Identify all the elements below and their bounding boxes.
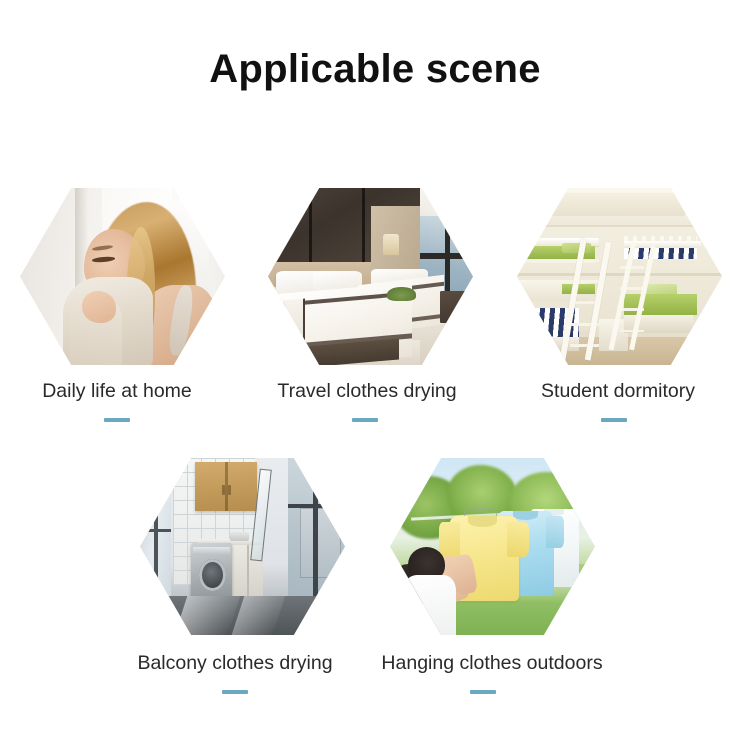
scene-accent-dash	[352, 418, 378, 422]
headboard-seam-right	[362, 188, 365, 268]
window-mullion-vertical	[445, 216, 450, 301]
ladder-rung	[570, 344, 599, 347]
scene-image-daily-life-at-home[interactable]	[20, 188, 225, 365]
scene-accent-dash	[104, 418, 130, 422]
scene-card-hanging-clothes-outdoors[interactable]	[390, 458, 595, 635]
shirt-neckline	[468, 516, 497, 527]
bunk-right-mattress-bottom	[624, 294, 698, 315]
window-frame-vertical	[313, 458, 318, 607]
applicable-scene-page: Applicable scene	[0, 0, 750, 750]
washer-control-panel	[193, 547, 230, 556]
scene-label-hanging-clothes-outdoors: Hanging clothes outdoors	[362, 652, 622, 675]
sink	[230, 532, 248, 541]
scene-image-hanging-clothes-outdoors[interactable]	[390, 458, 595, 635]
shirt-sleeve	[546, 516, 564, 548]
nightstand	[440, 291, 469, 323]
scene-card-daily-life-at-home[interactable]	[20, 188, 225, 365]
headboard-seam-left	[309, 188, 312, 268]
scene-card-balcony-clothes-drying[interactable]	[140, 458, 345, 635]
scene-label-daily-life-at-home: Daily life at home	[0, 380, 247, 403]
table-lamp	[383, 234, 399, 255]
photo-hotel-twin-beds	[268, 188, 473, 365]
washer-door	[199, 559, 226, 591]
scene-image-balcony-clothes-drying[interactable]	[140, 458, 345, 635]
scene-card-student-dormitory[interactable]	[517, 188, 722, 365]
scene-accent-dash	[601, 418, 627, 422]
photo-dorm-bunk-beds	[517, 188, 722, 365]
window-mullion-horizontal	[420, 253, 473, 258]
photo-woman-with-towel	[20, 188, 225, 365]
hand	[82, 291, 117, 323]
window-frame-horizontal	[288, 504, 345, 508]
cabinet-seam	[225, 462, 227, 512]
shirt-sleeve	[507, 522, 530, 557]
scene-accent-dash	[470, 690, 496, 694]
base-cabinet-seam	[247, 545, 249, 598]
bed-runner	[272, 298, 305, 361]
window-frame-vertical	[154, 458, 158, 610]
window-frame-horizontal	[140, 529, 171, 533]
cabinet-handle	[222, 485, 225, 496]
shirt-sleeve	[439, 522, 460, 557]
photo-hanging-clothes-outdoors	[390, 458, 595, 635]
scene-accent-dash	[222, 690, 248, 694]
ceiling-inset	[550, 193, 685, 216]
wainscot-line	[517, 273, 722, 277]
building-outside	[300, 508, 341, 579]
torso	[402, 575, 455, 635]
photo-balcony-laundry	[140, 458, 345, 635]
scene-image-student-dormitory[interactable]	[517, 188, 722, 365]
ladder-rung	[620, 266, 645, 269]
scene-label-balcony-clothes-drying: Balcony clothes drying	[105, 652, 365, 675]
ladder-rung	[570, 259, 599, 262]
cabinet-handle	[228, 485, 231, 496]
plant	[387, 287, 416, 301]
scene-label-student-dormitory: Student dormitory	[488, 380, 748, 403]
scene-card-travel-clothes-drying[interactable]	[268, 188, 473, 365]
bunk-left-pillow	[562, 243, 591, 254]
scene-image-travel-clothes-drying[interactable]	[268, 188, 473, 365]
page-title: Applicable scene	[0, 47, 750, 92]
scene-label-travel-clothes-drying: Travel clothes drying	[237, 380, 497, 403]
